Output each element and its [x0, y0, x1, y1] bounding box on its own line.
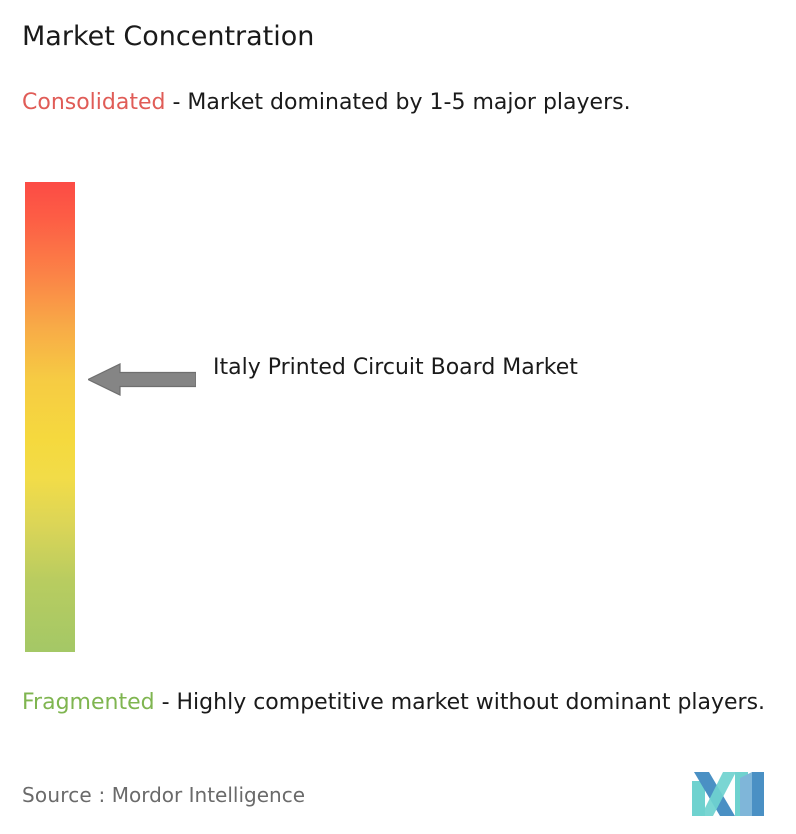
callout-arrow-icon [88, 363, 196, 396]
source-note: Source : Mordor Intelligence [22, 782, 305, 808]
legend-fragmented-keyword: Fragmented [22, 690, 155, 715]
legend-consolidated: Consolidated - Market dominated by 1-5 m… [22, 86, 764, 119]
legend-fragmented-description: - Highly competitive market without domi… [155, 690, 765, 715]
source-label: Source : [22, 783, 105, 807]
mordor-intelligence-logo-icon [692, 770, 764, 816]
footer: Source : Mordor Intelligence [0, 772, 796, 834]
legend-consolidated-description: - Market dominated by 1-5 major players. [165, 90, 630, 115]
source-value: Mordor Intelligence [112, 783, 305, 807]
legend-consolidated-keyword: Consolidated [22, 90, 165, 115]
market-concentration-scale-bar [25, 182, 75, 652]
callout-label: Italy Printed Circuit Board Market [213, 350, 633, 386]
legend-fragmented: Fragmented - Highly competitive market w… [22, 686, 788, 719]
page-title: Market Concentration [22, 20, 314, 54]
